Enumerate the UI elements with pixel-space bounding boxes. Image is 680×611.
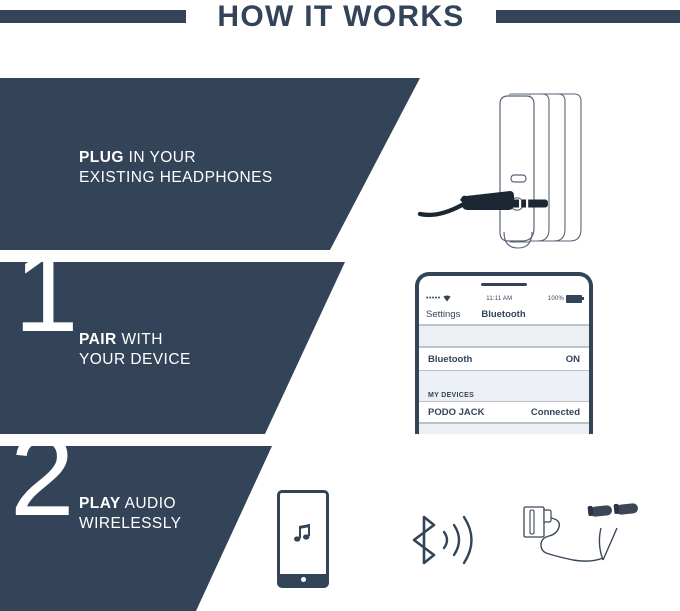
step-1-line-2: EXISTING HEADPHONES (79, 168, 273, 188)
phone-speaker-icon (481, 283, 527, 286)
step-panel-2: 2 PAIR WITH YOUR DEVICE (0, 262, 420, 434)
bluetooth-row-value: ON (566, 354, 580, 365)
earbud-right (613, 503, 638, 515)
device-name: PODO JACK (428, 407, 484, 418)
status-bar: ••••• 11:11 AM 100% (419, 292, 589, 305)
step-1-text: PLUG IN YOUR EXISTING HEADPHONES (79, 148, 273, 188)
step-3-shape (0, 446, 420, 611)
device-row-podo-jack[interactable]: PODO JACK Connected (419, 401, 589, 423)
step-3-line-1-rest: AUDIO (121, 495, 176, 512)
earbud-cable (541, 518, 603, 561)
receiver-front-face (500, 96, 534, 241)
divider-1 (0, 250, 420, 253)
battery-percent-label: 100% (548, 296, 564, 302)
step-2-shape (0, 262, 420, 434)
step-3-keyword: PLAY (79, 495, 121, 512)
bluetooth-icon (414, 517, 434, 563)
divider-2 (0, 434, 350, 437)
phone-home-bar (280, 574, 326, 585)
step-1-line-1-rest: IN YOUR (124, 149, 196, 166)
receiver-device-icon (524, 507, 551, 537)
list-gap-top (419, 325, 589, 347)
wifi-icon (443, 295, 451, 302)
status-bar-time: 11:11 AM (451, 296, 548, 302)
music-note-icon (280, 523, 326, 550)
music-phone (277, 490, 329, 588)
step-2-text: PAIR WITH YOUR DEVICE (79, 330, 191, 370)
bluetooth-row-label: Bluetooth (428, 354, 472, 365)
bluetooth-navbar: Settings Bluetooth (419, 305, 589, 325)
header-rule-right (496, 10, 680, 23)
page-title: HOW IT WORKS (190, 0, 492, 34)
step-panel-1: 1 PLUG IN YOUR EXISTING HEADPHONES (0, 78, 420, 250)
usb-port (511, 175, 526, 182)
plug-tip (512, 200, 548, 208)
step-2-line-2: YOUR DEVICE (79, 350, 191, 370)
nav-back-settings-link[interactable]: Settings (419, 309, 460, 320)
earbuds-illustration (520, 498, 644, 590)
step-3-line-1: PLAY AUDIO (79, 494, 181, 514)
step-1-line-1: PLUG IN YOUR (79, 148, 273, 168)
battery-full-icon (566, 295, 582, 303)
signal-dots-icon: ••••• (426, 295, 441, 302)
step-panel-3: 3 PLAY AUDIO WIRELESSLY (0, 446, 420, 611)
step-2-keyword: PAIR (79, 331, 117, 348)
header: HOW IT WORKS (0, 0, 680, 62)
status-bar-right: 100% (548, 295, 582, 303)
step-2-line-1: PAIR WITH (79, 330, 191, 350)
signal-waves-icon (444, 517, 472, 563)
bluetooth-settings-phone: ••••• 11:11 AM 100% Settings Bluetooth B… (415, 272, 593, 434)
status-bar-left: ••••• (426, 295, 451, 302)
audio-jack-illustration (412, 82, 617, 254)
nav-title: Bluetooth (460, 309, 525, 320)
audio-cable (420, 205, 462, 215)
header-rule-left (0, 10, 186, 23)
home-button-icon (301, 577, 306, 582)
step-3-line-2: WIRELESSLY (79, 514, 181, 534)
step-1-keyword: PLUG (79, 149, 124, 166)
my-devices-section-header: MY DEVICES (419, 371, 589, 401)
bluetooth-broadcast-illustration (396, 505, 488, 575)
bluetooth-toggle-row[interactable]: Bluetooth ON (419, 347, 589, 371)
step-2-line-1-rest: WITH (117, 331, 163, 348)
device-status: Connected (531, 407, 580, 418)
step-3-text: PLAY AUDIO WIRELESSLY (79, 494, 181, 534)
earbud-left (587, 505, 612, 517)
list-gap-bottom (419, 423, 589, 434)
infographic-page: HOW IT WORKS 1 PLUG IN YOUR EXISTING HEA… (0, 0, 680, 611)
